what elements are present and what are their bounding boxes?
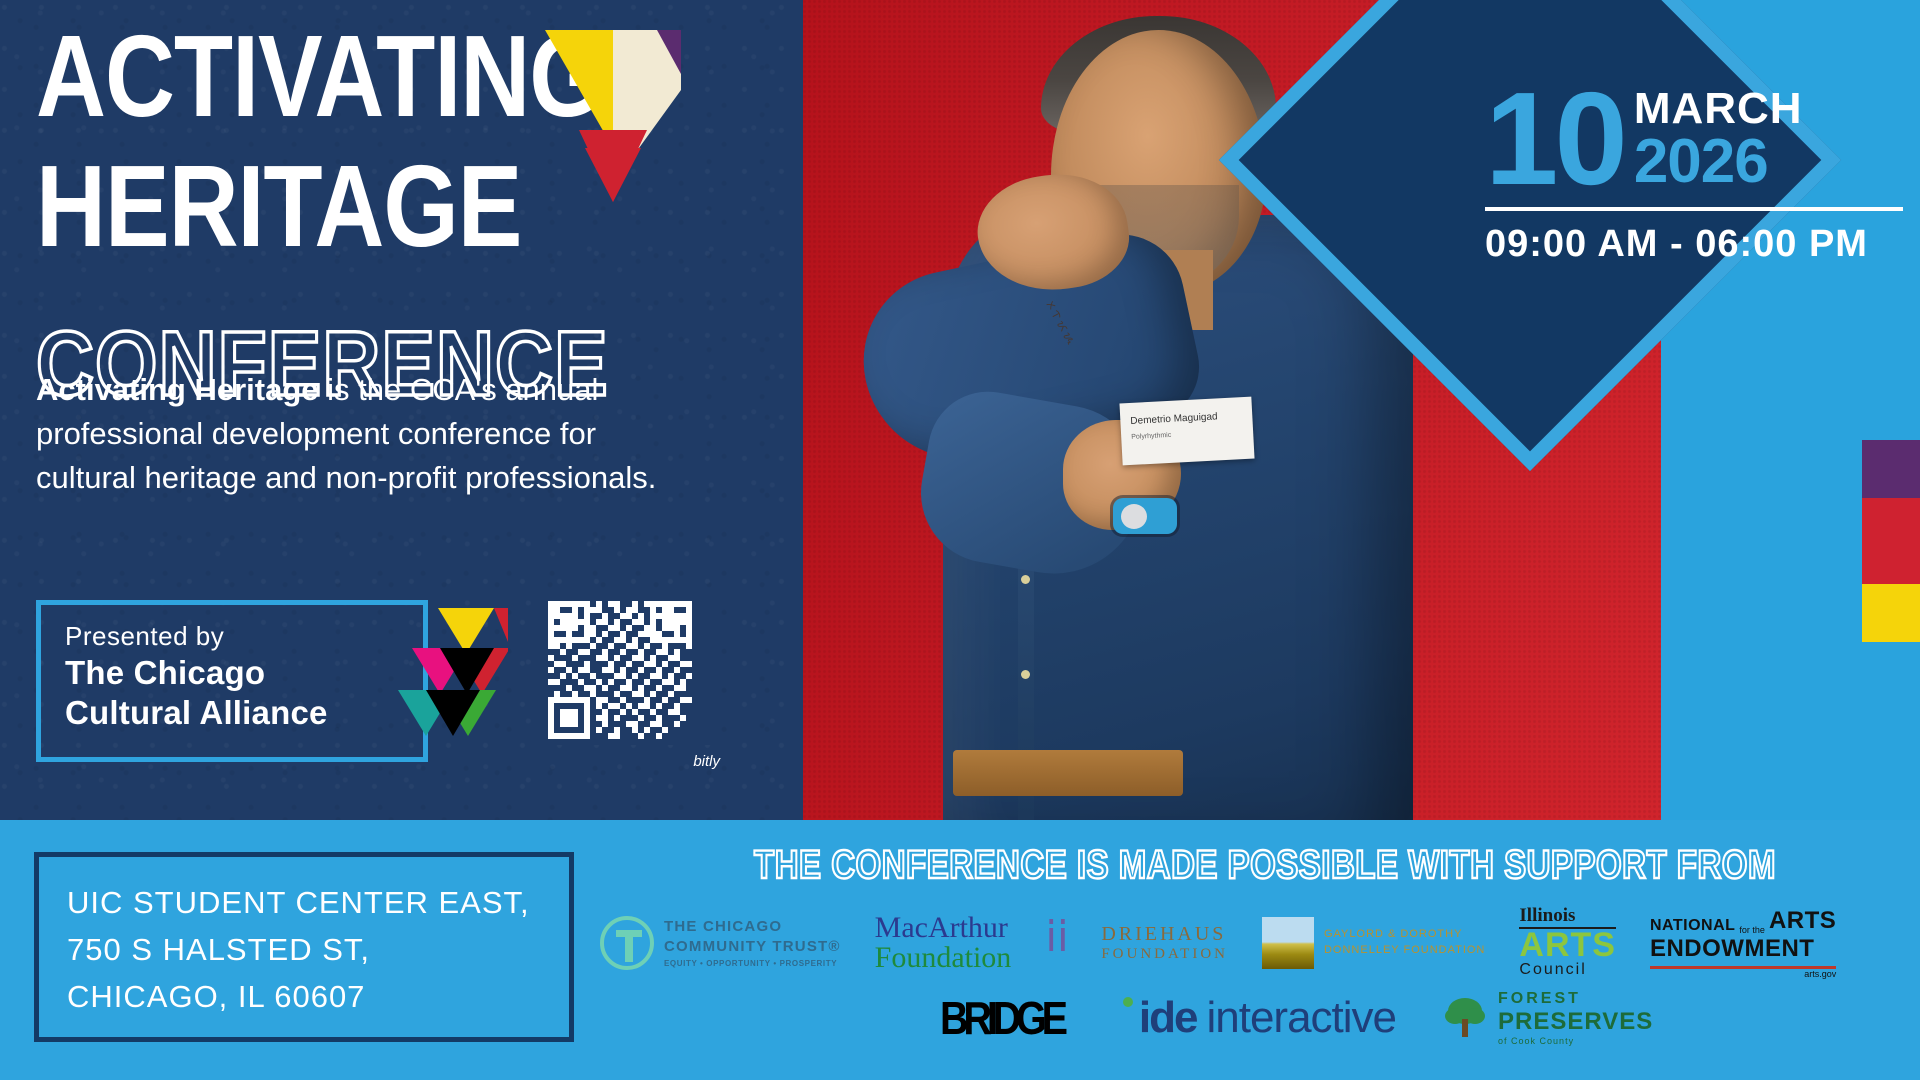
sponsor-driehaus-foundation[interactable]: ⅰⅰ DRIEHAUS FOUNDATION <box>1045 920 1228 966</box>
date-line: 10 MARCH 2026 <box>1485 85 1915 193</box>
watch-face <box>1121 504 1147 529</box>
donnelley-landscape-icon <box>1262 917 1314 969</box>
sponsor-bridge[interactable]: BRIDGE <box>930 991 1073 1045</box>
conference-poster: ACTIVATING HERITAGE CONFERENCE Activatin… <box>0 0 1920 1080</box>
venue-line-3: CHICAGO, IL 60607 <box>67 979 365 1014</box>
nea-line-1: NATIONAL <box>1650 917 1735 935</box>
venue-address: UIC STUDENT CENTER EAST, 750 S HALSTED S… <box>67 879 530 1020</box>
nea-line-2: for the <box>1739 925 1765 935</box>
macarthur-line-2: Foundation <box>875 943 1012 973</box>
iac-line-2: ARTS <box>1519 929 1616 961</box>
shirt-button <box>1021 575 1030 584</box>
sponsor-ide-interactive[interactable]: ide interactive <box>1119 993 1396 1043</box>
presented-by-box: Presented by The Chicago Cultural Allian… <box>36 600 428 762</box>
event-year: 2026 <box>1634 131 1803 193</box>
chicago-cultural-alliance-logo-icon <box>398 602 508 742</box>
left-info-panel: ACTIVATING HERITAGE CONFERENCE Activatin… <box>0 0 803 820</box>
venue-box: UIC STUDENT CENTER EAST, 750 S HALSTED S… <box>34 852 574 1042</box>
macarthur-line-1: MacArthur <box>875 913 1012 943</box>
qr-code-icon[interactable] <box>540 595 718 745</box>
driehaus-column-icon: ⅰⅰ <box>1045 920 1091 966</box>
driehaus-line-1: DRIEHAUS <box>1101 923 1228 946</box>
sponsor-forest-preserves[interactable]: FOREST PRESERVES of Cook County <box>1442 990 1653 1046</box>
ide-line-1: ide <box>1139 993 1197 1043</box>
nea-line-3: ARTS <box>1769 907 1836 935</box>
fp-line-1: FOREST <box>1498 990 1653 1008</box>
presenting-organization: The Chicago Cultural Alliance <box>65 653 328 734</box>
fp-line-2: PRESERVES <box>1498 1008 1653 1036</box>
tree-icon <box>1442 995 1488 1041</box>
fp-line-3: of Cook County <box>1498 1036 1653 1046</box>
cct-line-2: COMMUNITY TRUST® <box>664 937 841 957</box>
name-badge: Demetrio Maguigad Polyrhythmic <box>1119 397 1254 466</box>
bridge-wordmark: BRIDGE <box>940 991 1063 1045</box>
chicago-community-trust-icon <box>600 916 654 970</box>
ide-dot-icon <box>1123 997 1133 1007</box>
ide-line-2: interactive <box>1206 993 1396 1043</box>
donnelley-line-2: DONNELLEY FOUNDATION <box>1324 943 1485 959</box>
nea-top-row: NATIONAL for the ARTS <box>1650 907 1836 935</box>
badge-name: Demetrio Maguigad <box>1130 411 1218 427</box>
donnelley-line-1: GAYLORD & DOROTHY <box>1324 927 1485 943</box>
sponsor-donnelley-foundation[interactable]: GAYLORD & DOROTHY DONNELLEY FOUNDATION <box>1262 917 1485 969</box>
venue-line-1: UIC STUDENT CENTER EAST, <box>67 885 530 920</box>
sponsor-illinois-arts-council[interactable]: Illinois ARTS Council <box>1519 906 1616 979</box>
venue-line-2: 750 S HALSTED ST, <box>67 932 370 967</box>
accent-chip-yellow <box>1862 584 1920 642</box>
shirt-button <box>1021 670 1030 679</box>
accent-chip-purple <box>1862 440 1920 498</box>
registration-qr-code[interactable]: bitly <box>540 595 732 770</box>
poster-description: Activating Heritage is the CCA's annual … <box>36 368 676 500</box>
nea-line-5: arts.gov <box>1650 969 1836 979</box>
date-diamond: 10 MARCH 2026 09:00 AM - 06:00 PM <box>1310 0 1920 560</box>
event-time: 09:00 AM - 06:00 PM <box>1485 223 1915 266</box>
cct-tagline: EQUITY • OPPORTUNITY • PROSPERITY <box>664 959 841 968</box>
lede-bold: Activating Heritage <box>36 372 319 407</box>
sponsor-chicago-community-trust[interactable]: THE CHICAGO COMMUNITY TRUST® EQUITY • OP… <box>600 916 841 970</box>
month-year: MARCH 2026 <box>1634 87 1803 193</box>
sponsor-macarthur-foundation[interactable]: MacArthur Foundation <box>875 913 1012 973</box>
sponsor-national-endowment-for-the-arts[interactable]: NATIONAL for the ARTS ENDOWMENT arts.gov <box>1650 907 1836 979</box>
sponsor-row-primary: THE CHICAGO COMMUNITY TRUST® EQUITY • OP… <box>600 906 1900 979</box>
speaker-belt <box>953 750 1183 796</box>
badge-subtitle: Polyrhythmic <box>1131 432 1171 441</box>
support-heading: THE CONFERENCE IS MADE POSSIBLE WITH SUP… <box>650 842 1880 888</box>
org-line-2: Cultural Alliance <box>65 694 328 731</box>
cct-line-1: THE CHICAGO <box>664 917 841 937</box>
wristwatch <box>1113 498 1177 534</box>
date-details: 10 MARCH 2026 09:00 AM - 06:00 PM <box>1485 85 1915 266</box>
presented-by-label: Presented by <box>65 621 224 652</box>
nea-line-4: ENDOWMENT <box>1650 935 1836 963</box>
org-line-1: The Chicago <box>65 654 265 691</box>
accent-chip-red <box>1862 498 1920 584</box>
driehaus-line-2: FOUNDATION <box>1101 946 1228 963</box>
event-month: MARCH <box>1634 87 1803 131</box>
event-day: 10 <box>1485 85 1624 193</box>
bottom-band: UIC STUDENT CENTER EAST, 750 S HALSTED S… <box>0 820 1920 1080</box>
heritage-triangle-icon <box>545 30 681 202</box>
sponsor-row-secondary: BRIDGE ide interactive FOREST <box>930 990 1630 1046</box>
qr-caption: bitly <box>693 753 720 770</box>
